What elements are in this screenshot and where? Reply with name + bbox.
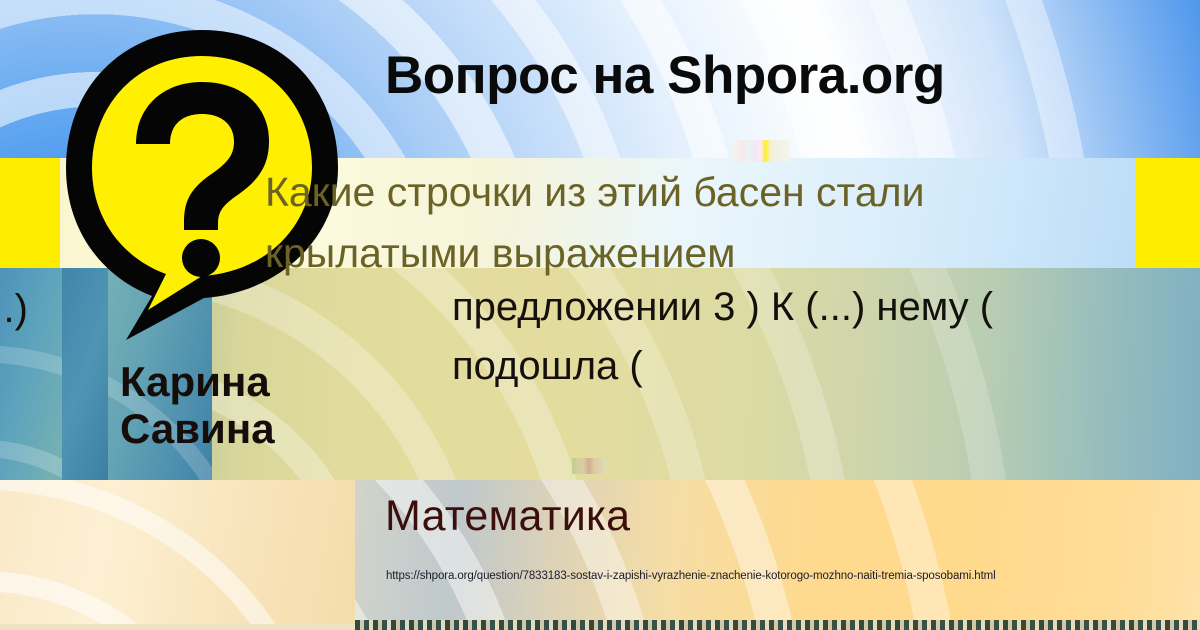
bottom-left-cream-wedge bbox=[0, 480, 355, 630]
author-name-line1: Карина bbox=[120, 358, 390, 405]
subject-label: Математика bbox=[385, 492, 630, 541]
question-text: Какие строчки из этий басен стали крылат… bbox=[265, 162, 1145, 283]
body-text-left-fragment: (...) bbox=[0, 287, 28, 332]
body-text: предложении 3 ) К (...) нему ( подошла ( bbox=[452, 278, 1200, 396]
question-preview-card: Вопрос на Shpora.org Какие строчки из эт… bbox=[0, 0, 1200, 630]
bottom-dashed-edge bbox=[355, 620, 1200, 630]
bottom-edge-left bbox=[0, 624, 355, 630]
author-name: Карина Савина bbox=[120, 358, 390, 452]
capture-artifact-lower bbox=[572, 458, 606, 474]
page-title: Вопрос на Shpora.org bbox=[385, 48, 1085, 104]
author-name-line2: Савина bbox=[120, 405, 390, 452]
capture-artifact-upper bbox=[734, 140, 790, 162]
source-url[interactable]: https://shpora.org/question/7833183-sost… bbox=[386, 570, 996, 582]
